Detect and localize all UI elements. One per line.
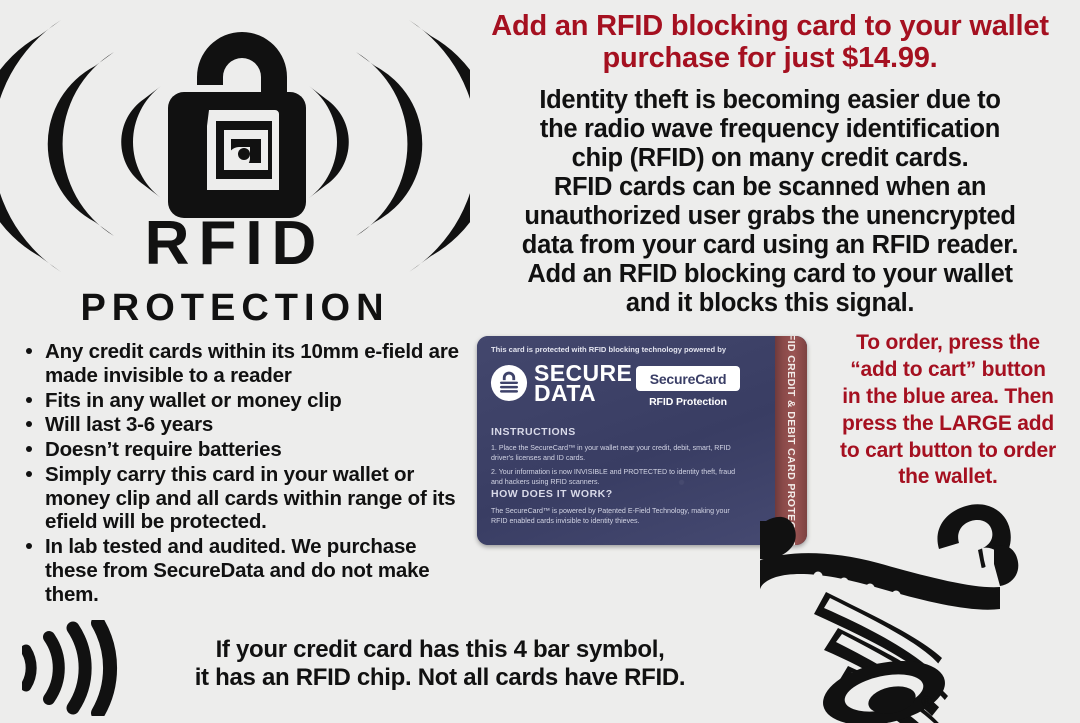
securecard-badge-sub: RFID Protection — [636, 396, 740, 408]
headline-line-1: Add an RFID blocking card to your — [491, 10, 961, 42]
card-how-heading: HOW DOES IT WORK? — [491, 488, 613, 500]
list-item: Will last 3-6 years — [22, 413, 470, 437]
list-item-text: Simply carry this card in your wallet or… — [45, 463, 455, 534]
securedata-wordmark-line2: DATA — [534, 383, 632, 403]
intro-line-2: the radio wave frequency identification — [462, 115, 1078, 144]
order-line-5: to cart button to order — [820, 438, 1076, 465]
list-item-text: In lab tested and audited. We purchase t… — [45, 535, 429, 606]
list-item: In lab tested and audited. We purchase t… — [22, 535, 470, 606]
intro-line-5: unauthorized user grabs the unencrypted — [462, 202, 1078, 231]
intro-paragraph: Identity theft is becoming easier due to… — [462, 86, 1078, 319]
card-how-text: The SecureCard™ is powered by Patented E… — [491, 506, 743, 527]
card-brand-row: SECURE DATA SecureCard RFID Protection — [490, 360, 746, 416]
poster-canvas: RFID PROTECTION Add an RFID blocking car… — [0, 0, 1080, 723]
list-item: Any credit cards within its 10mm e-field… — [22, 340, 470, 388]
order-line-1: To order, press the — [820, 330, 1076, 357]
bottom-caption-line-2: it has an RFID chip. Not all cards have … — [120, 664, 760, 692]
headline: Add an RFID blocking card to your wallet… — [470, 10, 1070, 75]
card-top-line: This card is protected with RFID blockin… — [491, 345, 743, 354]
order-line-2: “add to cart” button — [820, 357, 1076, 384]
intro-line-3: chip (RFID) on many credit cards. — [462, 144, 1078, 173]
bullet-dot-icon — [26, 397, 32, 403]
securecard-badge-label: SecureCard — [650, 371, 727, 387]
intro-line-6: data from your card using an RFID reader… — [462, 231, 1078, 260]
order-instructions: To order, press the “add to cart” button… — [820, 330, 1076, 491]
coiled-belt-icon — [760, 488, 1080, 723]
list-item: Doesn’t require batteries — [22, 438, 470, 462]
list-item-text: Doesn’t require batteries — [45, 438, 282, 461]
logo-subtitle: PROTECTION — [80, 287, 389, 329]
logo-title: RFID — [145, 209, 326, 278]
list-item: Simply carry this card in your wallet or… — [22, 463, 470, 534]
order-line-4: press the LARGE add — [820, 411, 1076, 438]
card-step-2: 2. Your information is now INVISIBLE and… — [491, 467, 743, 488]
intro-line-8: and it blocks this signal. — [462, 289, 1078, 318]
rfid-protection-logo: RFID PROTECTION — [0, 2, 470, 332]
securedata-padlock-icon — [490, 364, 528, 402]
feature-list: Any credit cards within its 10mm e-field… — [22, 340, 470, 607]
bullet-dot-icon — [26, 348, 32, 354]
bullet-dot-icon — [26, 471, 32, 477]
securecard-product-image: This card is protected with RFID blockin… — [477, 336, 807, 545]
bottom-caption: If your credit card has this 4 bar symbo… — [120, 636, 760, 692]
securedata-wordmark: SECURE DATA — [534, 363, 632, 403]
order-line-3: in the blue area. Then — [820, 384, 1076, 411]
card-front-content: This card is protected with RFID blockin… — [477, 336, 747, 545]
registered-trademark-mark: ® — [921, 694, 932, 709]
bullet-dot-icon — [26, 446, 32, 452]
coiled-belt-logo — [760, 488, 1080, 723]
bottom-caption-line-1: If your credit card has this 4 bar symbo… — [120, 636, 760, 664]
card-instructions-heading: INSTRUCTIONS — [491, 426, 576, 438]
securecard-badge: SecureCard — [636, 366, 740, 391]
list-item-text: Any credit cards within its 10mm e-field… — [45, 340, 459, 387]
rfid-protection-logo-icon: RFID PROTECTION — [0, 2, 470, 332]
bullet-dot-icon — [26, 421, 32, 427]
list-item-text: Fits in any wallet or money clip — [45, 389, 342, 412]
card-step-1: 1. Place the SecureCard™ in your wallet … — [491, 443, 743, 464]
intro-line-4: RFID cards can be scanned when an — [462, 173, 1078, 202]
bullet-dot-icon — [26, 543, 32, 549]
list-item: Fits in any wallet or money clip — [22, 389, 470, 413]
intro-line-1: Identity theft is becoming easier due to — [462, 86, 1078, 115]
list-item-text: Will last 3-6 years — [45, 413, 213, 436]
intro-line-7: Add an RFID blocking card to your wallet — [462, 260, 1078, 289]
